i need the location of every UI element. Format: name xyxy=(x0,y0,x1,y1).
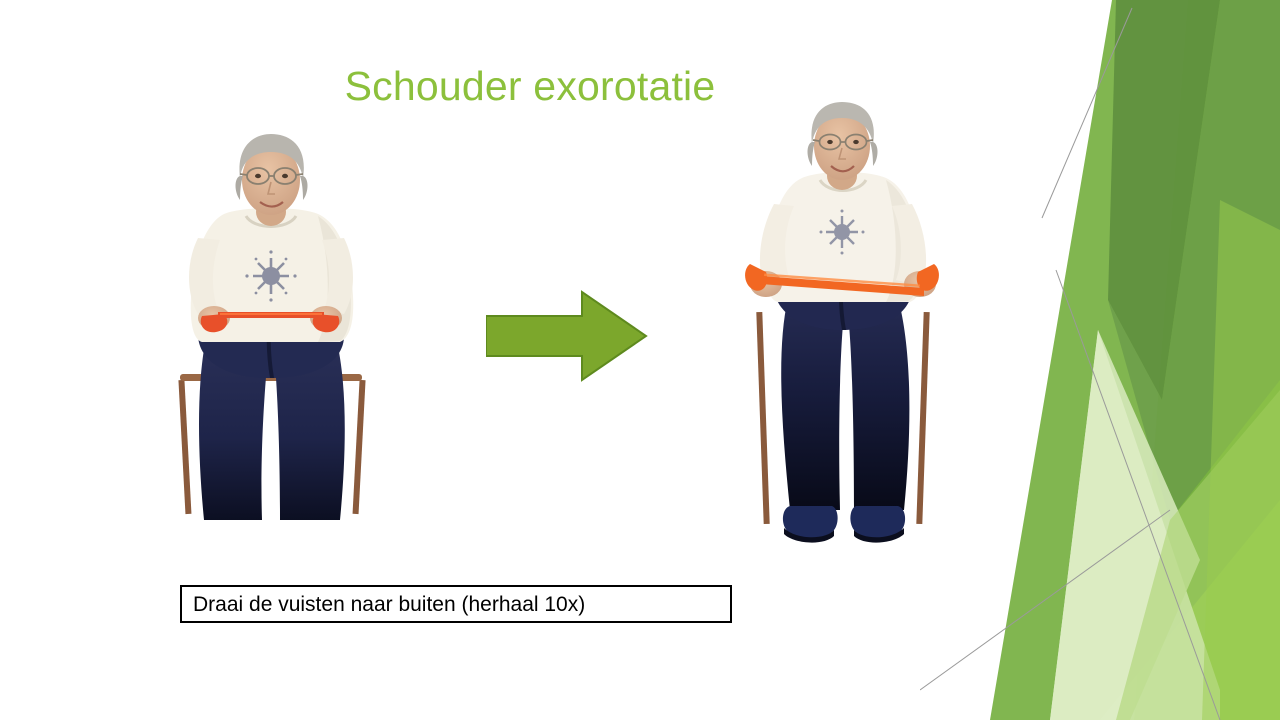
eye-left xyxy=(255,174,261,178)
hair-side-left xyxy=(808,142,816,166)
right-arrow-icon xyxy=(486,288,648,384)
arrow-shape xyxy=(486,292,646,380)
decor-hairline-upper xyxy=(1042,8,1132,218)
photo-start-position xyxy=(168,128,374,520)
decorative-background-shapes xyxy=(920,0,1280,720)
resistance-band-highlight xyxy=(220,313,322,315)
hair-side-right xyxy=(300,176,308,200)
hair-side-right xyxy=(870,142,878,166)
trousers-right-leg xyxy=(848,298,909,510)
decor-shape-mid-wedge xyxy=(990,0,1280,720)
eye-left xyxy=(827,140,833,144)
decor-shape-light-overlay-2 xyxy=(1202,200,1280,720)
chair-leg-left xyxy=(178,380,191,514)
decor-hairline-diagonal xyxy=(920,510,1170,690)
decor-shape-bright-right xyxy=(1134,0,1280,720)
chair-leg-right xyxy=(353,380,366,514)
decor-shape-dark-lower xyxy=(1108,0,1280,520)
hair-side-left xyxy=(236,176,244,200)
eye-right xyxy=(282,174,288,178)
eye-right xyxy=(853,140,859,144)
chair-leg-left xyxy=(756,312,769,524)
decor-hairline-long xyxy=(1056,270,1220,720)
slide-canvas: Schouder exorotatie xyxy=(0,0,1280,720)
decor-shape-pale-lower xyxy=(1050,330,1220,720)
caption-text: Draai de vuisten naar buiten (herhaal 10… xyxy=(182,594,585,615)
decor-shape-light-overlay xyxy=(1116,390,1280,720)
decor-shape-dark-band xyxy=(1108,0,1220,400)
caption-textbox: Draai de vuisten naar buiten (herhaal 10… xyxy=(180,585,732,623)
chair-leg-right xyxy=(916,312,929,524)
photo-end-position xyxy=(744,100,940,562)
decor-shape-pale-mid xyxy=(1050,330,1200,720)
